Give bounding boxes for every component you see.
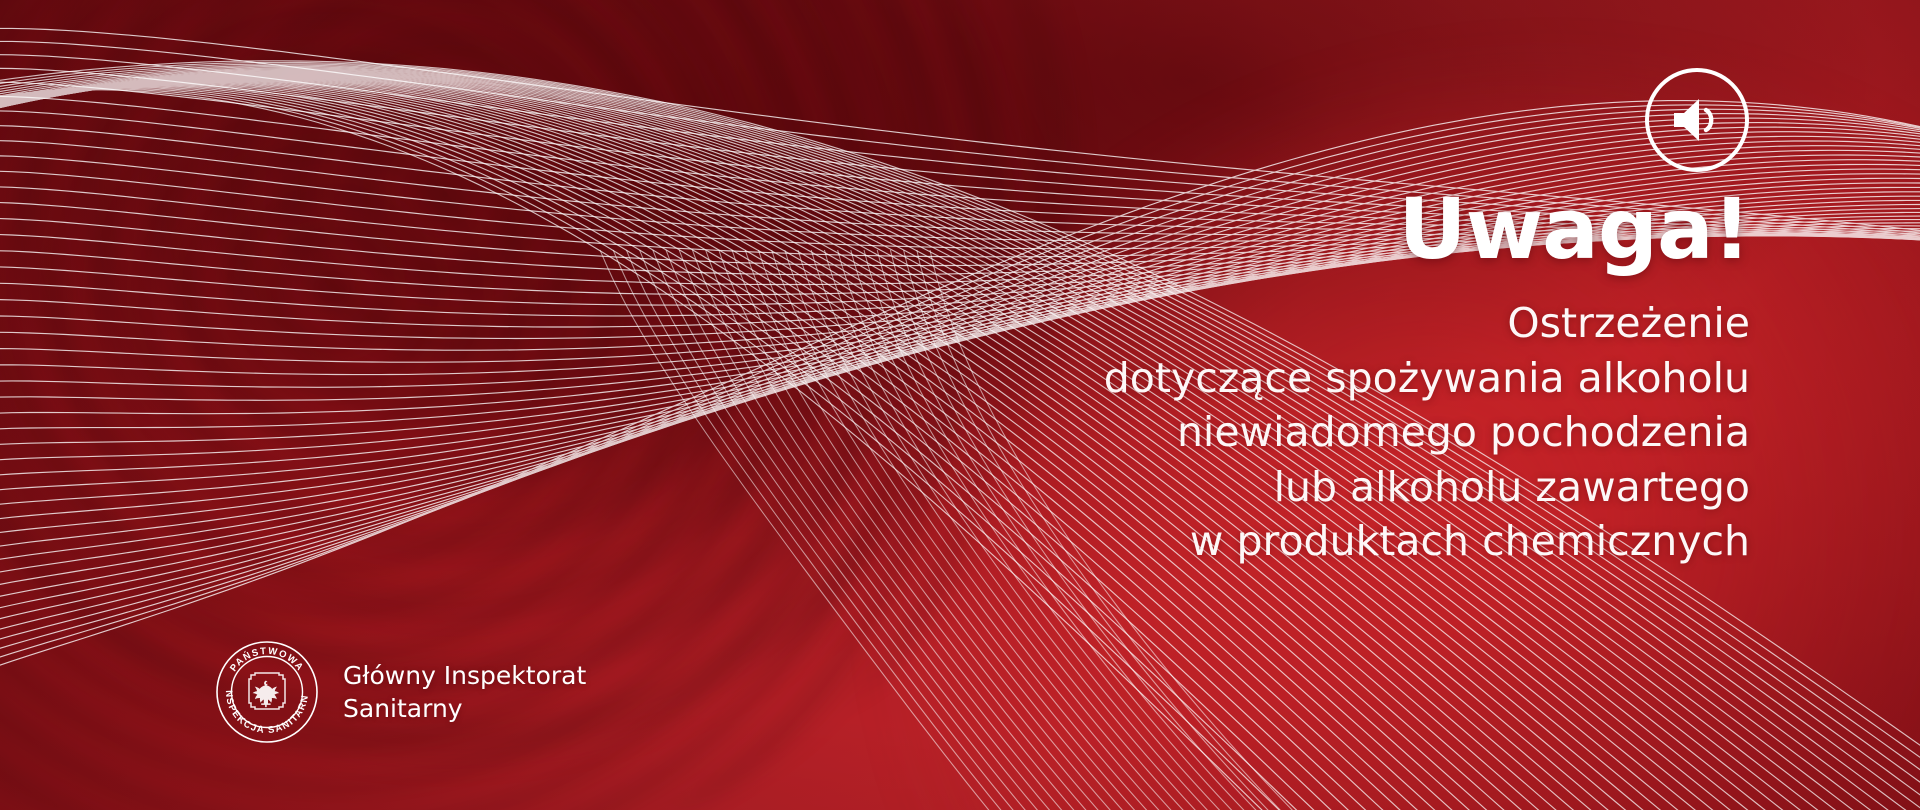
speaker-icon xyxy=(1670,95,1724,145)
warning-banner: Uwaga! Ostrzeżenie dotyczące spożywania … xyxy=(0,0,1920,810)
warning-line-1: Ostrzeżenie xyxy=(850,296,1750,351)
panstwowa-inspekcja-sanitarna-seal-icon: PAŃSTWOWA INSPEKCJA SANITARNA xyxy=(215,640,319,744)
announcement-speaker-badge xyxy=(1645,68,1749,172)
warning-line-2: dotyczące spożywania alkoholu xyxy=(850,351,1750,406)
gis-wordmark-line-2: Sanitarny xyxy=(343,692,586,726)
gis-wordmark-line-1: Główny Inspektorat xyxy=(343,659,586,693)
message-block: Uwaga! Ostrzeżenie dotyczące spożywania … xyxy=(850,188,1750,569)
gis-wordmark: Główny Inspektorat Sanitarny xyxy=(343,659,586,726)
warning-line-5: w produktach chemicznych xyxy=(850,514,1750,569)
warning-description: Ostrzeżenie dotyczące spożywania alkohol… xyxy=(850,296,1750,569)
warning-line-4: lub alkoholu zawartego xyxy=(850,460,1750,515)
warning-line-3: niewiadomego pochodzenia xyxy=(850,405,1750,460)
polish-eagle-icon xyxy=(253,681,280,708)
page-title: Uwaga! xyxy=(850,188,1750,270)
gis-logo-lockup: PAŃSTWOWA INSPEKCJA SANITARNA Główny Ins… xyxy=(215,640,586,744)
